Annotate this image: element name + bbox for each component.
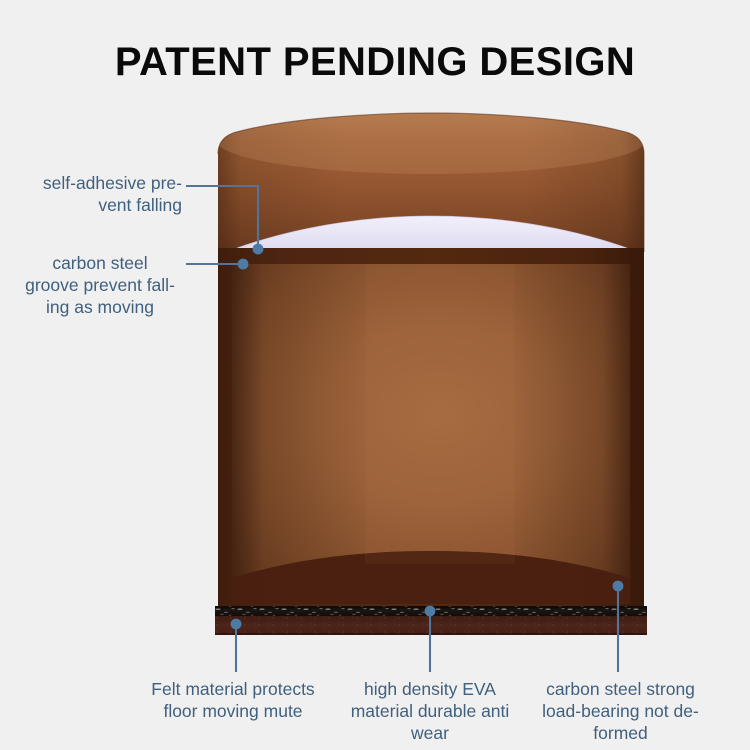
annotation-line: material durable anti xyxy=(330,700,530,722)
annotation-felt: Felt material protects floor moving mute xyxy=(118,678,348,722)
annotation-carbon-steel-groove: carbon steel groove prevent fall- ing as… xyxy=(0,252,200,318)
page-title: PATENT PENDING DESIGN xyxy=(0,40,750,85)
annotation-line: load-bearing not de- xyxy=(518,700,723,722)
annotation-line: groove prevent fall- xyxy=(0,274,200,296)
eva-layer xyxy=(215,606,647,616)
product-illustration xyxy=(215,112,647,636)
annotation-line: high density EVA xyxy=(330,678,530,700)
annotation-line: Felt material protects xyxy=(118,678,348,700)
annotation-line: self-adhesive pre- xyxy=(0,172,182,194)
annotation-line: vent falling xyxy=(0,194,182,216)
annotation-eva: high density EVA material durable anti w… xyxy=(330,678,530,744)
annotation-line: wear xyxy=(330,722,530,744)
product-body xyxy=(215,248,647,636)
felt-layer xyxy=(215,616,647,635)
annotation-line: floor moving mute xyxy=(118,700,348,722)
illustration-canvas: PATENT PENDING DESIGN xyxy=(0,0,750,750)
annotation-line: carbon steel strong xyxy=(518,678,723,700)
annotation-line: carbon steel xyxy=(0,252,200,274)
annotation-line: formed xyxy=(518,722,723,744)
annotation-line: ing as moving xyxy=(0,296,200,318)
annotation-self-adhesive: self-adhesive pre- vent falling xyxy=(0,172,182,216)
annotation-carbon-steel-body: carbon steel strong load-bearing not de-… xyxy=(518,678,723,744)
